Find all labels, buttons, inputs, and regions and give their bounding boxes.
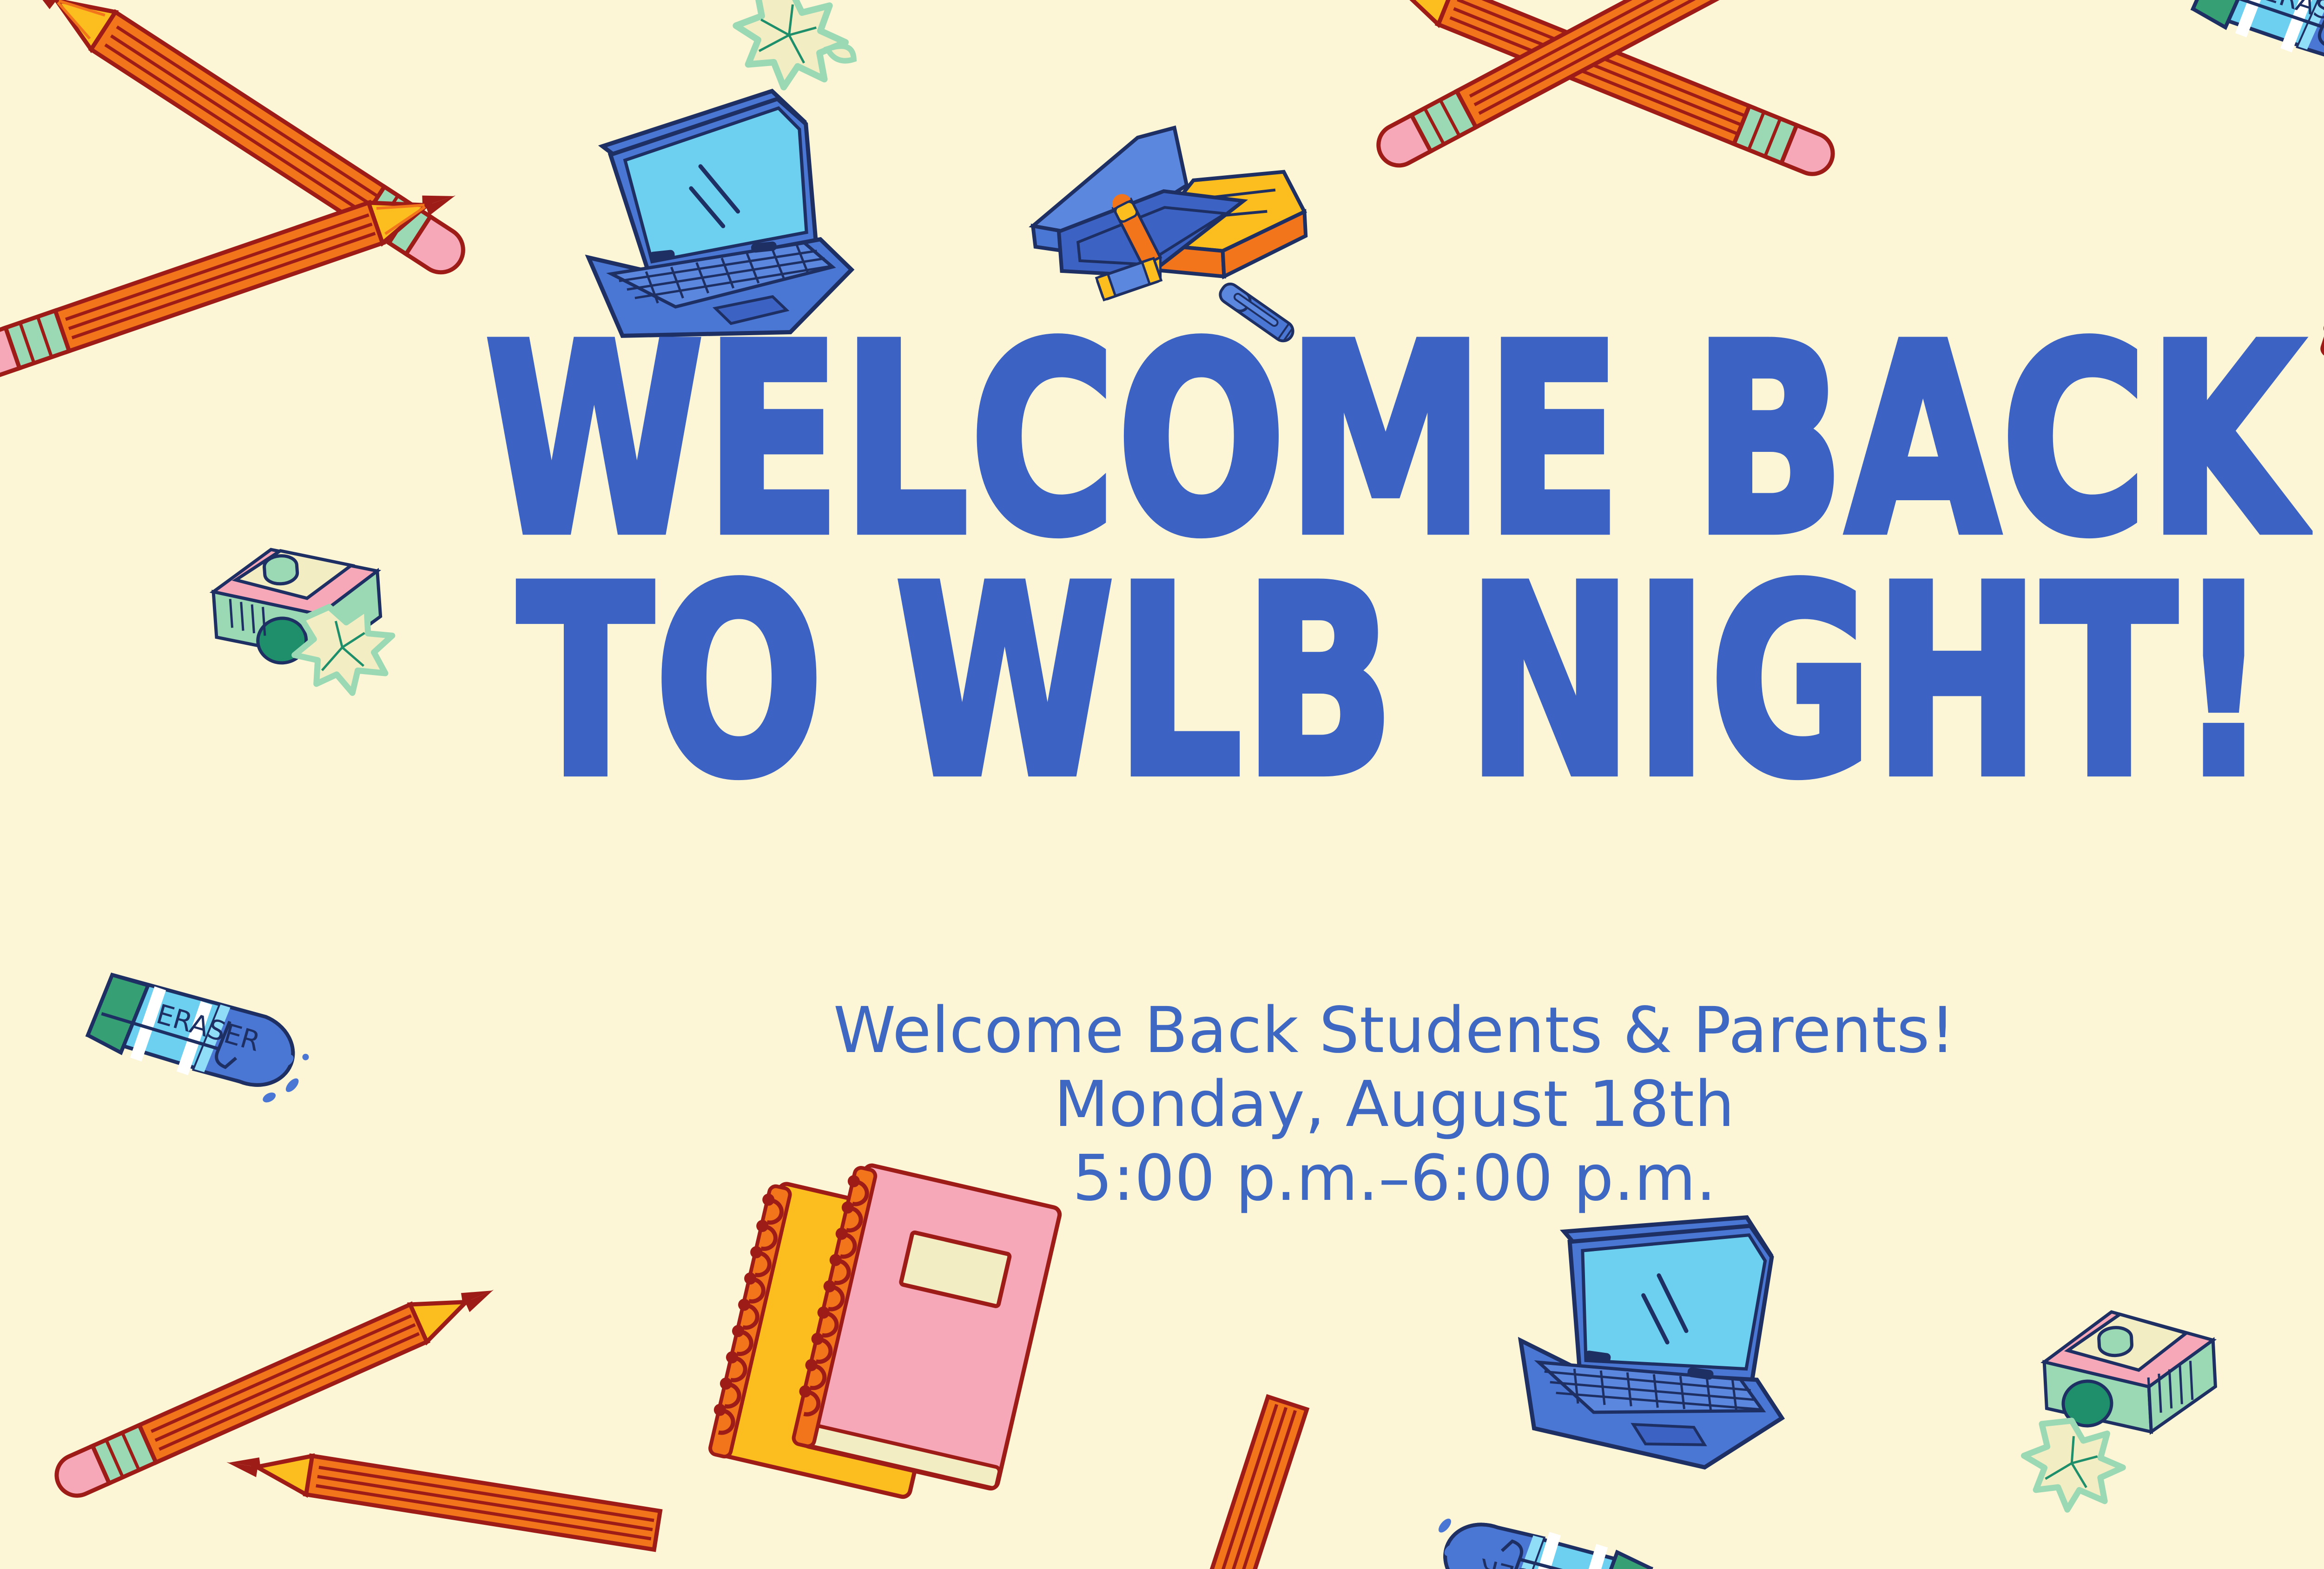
subtitle-line-time: 5:00 p.m.–6:00 p.m. — [833, 1142, 1955, 1216]
poster-canvas: ERASER — [0, 0, 2324, 1569]
subtitle-line-date: Monday, August 18th — [833, 1068, 1955, 1142]
poster-text-content: WELCOME BACK TO WLB NIGHT! Welcome Back … — [0, 0, 2324, 1569]
headline-line-1: WELCOME BACK — [485, 321, 2304, 563]
headline-line-2: TO WLB NIGHT! — [485, 563, 2304, 804]
subtitle-line-greeting: Welcome Back Students & Parents! — [833, 994, 1955, 1068]
page-title: WELCOME BACK TO WLB NIGHT! — [485, 321, 2304, 804]
event-details: Welcome Back Students & Parents! Monday,… — [833, 994, 1955, 1216]
